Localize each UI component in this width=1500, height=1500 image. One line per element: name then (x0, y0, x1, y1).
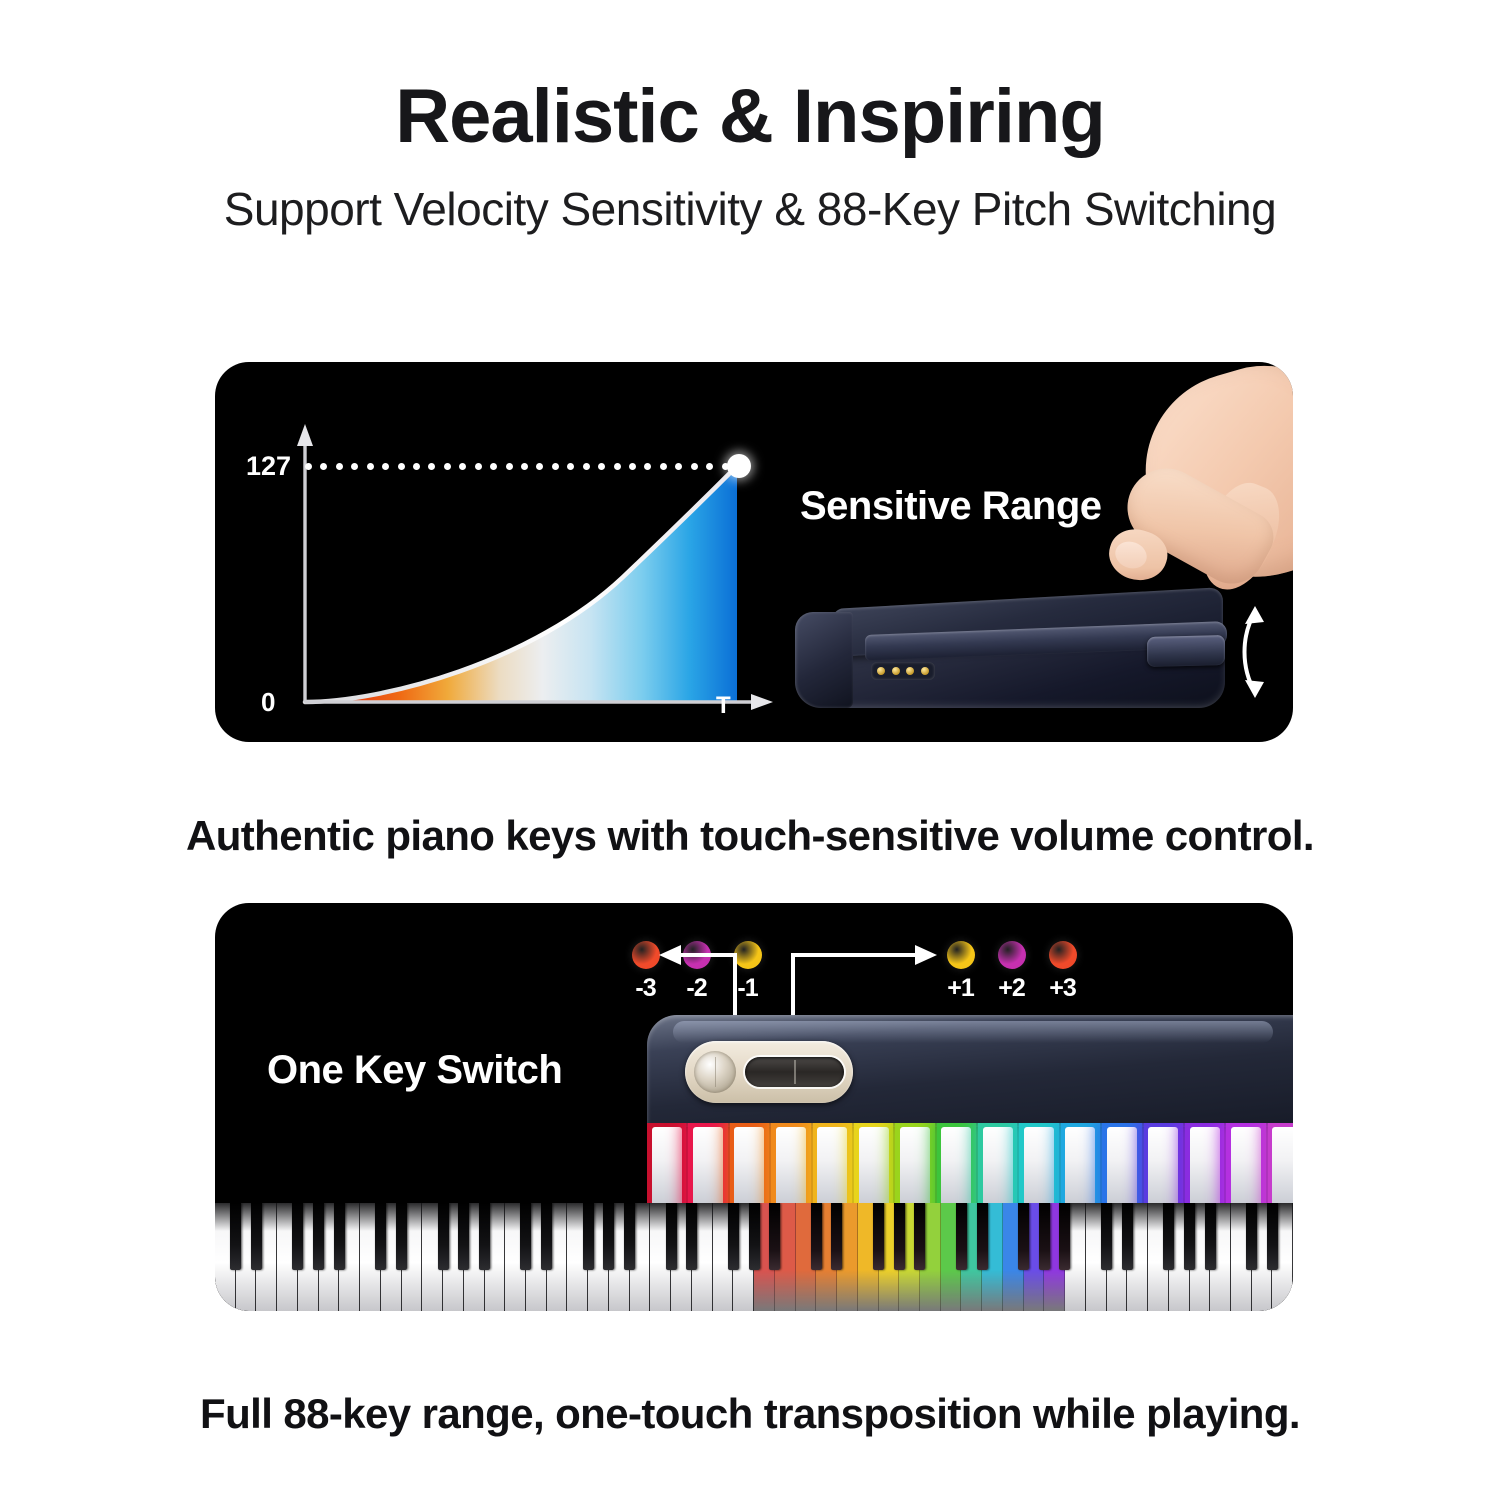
velocity-panel-caption: Authentic piano keys with touch-sensitiv… (0, 812, 1500, 860)
piano-white-key[interactable] (381, 1203, 402, 1311)
dotted-line-dot (691, 463, 698, 470)
piano-white-key[interactable] (319, 1203, 340, 1311)
piano-white-key[interactable] (360, 1203, 381, 1311)
led-key-cap (693, 1127, 723, 1206)
piano-white-key[interactable] (941, 1203, 962, 1311)
led-key[interactable] (854, 1123, 893, 1215)
dotted-line-dot (398, 463, 405, 470)
dotted-line-dot (475, 463, 482, 470)
led-key[interactable] (895, 1123, 934, 1215)
velocity-sensitivity-panel: 127 0 T Sensitive Range (215, 362, 1293, 742)
dotted-line-dot (675, 463, 682, 470)
piano-white-key[interactable] (692, 1203, 713, 1311)
white-keys-row (215, 1203, 1293, 1311)
led-key-cap (1148, 1127, 1178, 1206)
led-key[interactable] (1144, 1123, 1183, 1215)
dotted-line-dot (382, 463, 389, 470)
led-key-cap (817, 1127, 847, 1206)
led-key-cap (1190, 1127, 1220, 1206)
led-key[interactable] (1019, 1123, 1058, 1215)
piano-white-key[interactable] (961, 1203, 982, 1311)
piano-white-key[interactable] (816, 1203, 837, 1311)
piano-white-key[interactable] (422, 1203, 443, 1311)
piano-white-key[interactable] (1148, 1203, 1169, 1311)
piano-white-key[interactable] (1024, 1203, 1045, 1311)
x-axis-label: T (716, 692, 731, 720)
transpose-knob[interactable] (694, 1051, 736, 1093)
piano-white-key[interactable] (713, 1203, 734, 1311)
piano-white-key[interactable] (1127, 1203, 1148, 1311)
dotted-line-dot (305, 463, 312, 470)
dotted-line-dot (536, 463, 543, 470)
led-key[interactable] (813, 1123, 852, 1215)
piano-white-key[interactable] (1190, 1203, 1211, 1311)
piano-white-key[interactable] (1065, 1203, 1086, 1311)
led-key[interactable] (937, 1123, 976, 1215)
dotted-line-dot (660, 463, 667, 470)
device-left-end-cap (795, 612, 853, 708)
piano-white-key[interactable] (1210, 1203, 1231, 1311)
piano-white-key[interactable] (982, 1203, 1003, 1311)
led-key-cap (859, 1127, 889, 1206)
x-axis-arrowhead (751, 694, 773, 710)
led-key-cap (900, 1127, 930, 1206)
led-key-cap (1272, 1127, 1293, 1206)
piano-white-key[interactable] (485, 1203, 506, 1311)
piano-white-key[interactable] (567, 1203, 588, 1311)
origin-label: 0 (261, 687, 275, 718)
piano-white-key[interactable] (879, 1203, 900, 1311)
dotted-line-dot (336, 463, 343, 470)
dotted-line-dot (614, 463, 621, 470)
led-key[interactable] (647, 1123, 686, 1215)
piano-white-key[interactable] (1107, 1203, 1128, 1311)
arrowhead-minus-one (659, 945, 681, 965)
led-key[interactable] (1061, 1123, 1100, 1215)
piano-white-key[interactable] (588, 1203, 609, 1311)
page-subtitle: Support Velocity Sensitivity & 88-Key Pi… (0, 182, 1500, 236)
piano-white-key[interactable] (547, 1203, 568, 1311)
key-travel-up-down-arrow (1235, 602, 1271, 702)
piano-white-key[interactable] (298, 1203, 319, 1311)
curve-endpoint-marker (727, 454, 751, 478)
piano-white-key[interactable] (671, 1203, 692, 1311)
piano-white-key[interactable] (1169, 1203, 1190, 1311)
led-key[interactable] (1102, 1123, 1141, 1215)
piano-white-key[interactable] (256, 1203, 277, 1311)
led-key-cap (1231, 1127, 1261, 1206)
led-key-cap (734, 1127, 764, 1206)
piano-white-key[interactable] (1231, 1203, 1252, 1311)
piano-white-key[interactable] (733, 1203, 754, 1311)
piano-white-key[interactable] (236, 1203, 257, 1311)
piano-white-key[interactable] (837, 1203, 858, 1311)
dotted-line-dot (552, 463, 559, 470)
led-key-cap (1024, 1127, 1054, 1206)
velocity-chart-svg (233, 362, 793, 742)
one-key-switch-panel: One Key Switch -3 -2 -1 +1 +2 +3 (215, 903, 1293, 1311)
led-key[interactable] (688, 1123, 727, 1215)
page-header: Realistic & Inspiring Support Velocity S… (0, 78, 1500, 236)
page-title: Realistic & Inspiring (0, 78, 1500, 156)
piano-white-key[interactable] (920, 1203, 941, 1311)
dotted-line-dot (444, 463, 451, 470)
max-level-dotted-line (305, 463, 737, 470)
piano-white-key[interactable] (215, 1203, 236, 1311)
led-key[interactable] (730, 1123, 769, 1215)
velocity-curve-chart: 127 0 T (233, 362, 793, 742)
led-key[interactable] (1185, 1123, 1224, 1215)
contact-pin (906, 667, 914, 675)
piano-white-key[interactable] (1086, 1203, 1107, 1311)
led-key[interactable] (1268, 1123, 1293, 1215)
dotted-line-dot (567, 463, 574, 470)
led-key-cap (1107, 1127, 1137, 1206)
dotted-line-dot (320, 463, 327, 470)
y-axis-max-label: 127 (246, 451, 291, 482)
dotted-line-dot (428, 463, 435, 470)
piano-white-key[interactable] (505, 1203, 526, 1311)
y-axis-arrowhead (297, 424, 313, 446)
dotted-line-dot (367, 463, 374, 470)
piano-white-key[interactable] (796, 1203, 817, 1311)
dotted-line-dot (490, 463, 497, 470)
dotted-line-dot (521, 463, 528, 470)
piano-white-key[interactable] (526, 1203, 547, 1311)
led-key-cap (983, 1127, 1013, 1206)
piano-white-key[interactable] (609, 1203, 630, 1311)
piano-white-key[interactable] (630, 1203, 651, 1311)
piano-white-key[interactable] (1003, 1203, 1024, 1311)
control-module (685, 1041, 853, 1103)
piano-white-key[interactable] (754, 1203, 775, 1311)
piano-white-key[interactable] (899, 1203, 920, 1311)
dotted-line-dot (644, 463, 651, 470)
dotted-line-dot (506, 463, 513, 470)
dotted-line-dot (629, 463, 636, 470)
led-key[interactable] (1226, 1123, 1265, 1215)
piano-white-key[interactable] (277, 1203, 298, 1311)
dotted-line-dot (413, 463, 420, 470)
led-key-cap (941, 1127, 971, 1206)
piano-88-keys (215, 1203, 1293, 1311)
transpose-panel-caption: Full 88-key range, one-touch transpositi… (0, 1390, 1500, 1438)
dotted-line-dot (583, 463, 590, 470)
dotted-line-dot (706, 463, 713, 470)
piano-white-key[interactable] (339, 1203, 360, 1311)
led-illuminated-keys (647, 1123, 1293, 1215)
dotted-line-dot (459, 463, 466, 470)
led-key-cap (652, 1127, 682, 1206)
contact-pin (877, 667, 885, 675)
dotted-line-dot (351, 463, 358, 470)
charging-contact-pins (871, 662, 935, 680)
contact-pin (921, 667, 929, 675)
arrowhead-plus-one (915, 945, 937, 965)
led-key[interactable] (771, 1123, 810, 1215)
piano-white-key[interactable] (1272, 1203, 1293, 1311)
piano-white-key[interactable] (443, 1203, 464, 1311)
led-key-cap (776, 1127, 806, 1206)
piano-white-key[interactable] (402, 1203, 423, 1311)
piano-white-key[interactable] (775, 1203, 796, 1311)
piano-white-key[interactable] (464, 1203, 485, 1311)
contact-pin (892, 667, 900, 675)
piano-white-key[interactable] (858, 1203, 879, 1311)
piano-white-key[interactable] (1252, 1203, 1273, 1311)
piano-white-key[interactable] (650, 1203, 671, 1311)
led-key[interactable] (978, 1123, 1017, 1215)
product-body (647, 1015, 1293, 1127)
led-key-cap (1065, 1127, 1095, 1206)
dotted-line-dot (598, 463, 605, 470)
velocity-area-fill (305, 466, 737, 702)
sensitive-range-label: Sensitive Range (800, 484, 1102, 529)
piano-white-key[interactable] (1044, 1203, 1065, 1311)
transpose-rocker-switch[interactable] (745, 1057, 844, 1087)
